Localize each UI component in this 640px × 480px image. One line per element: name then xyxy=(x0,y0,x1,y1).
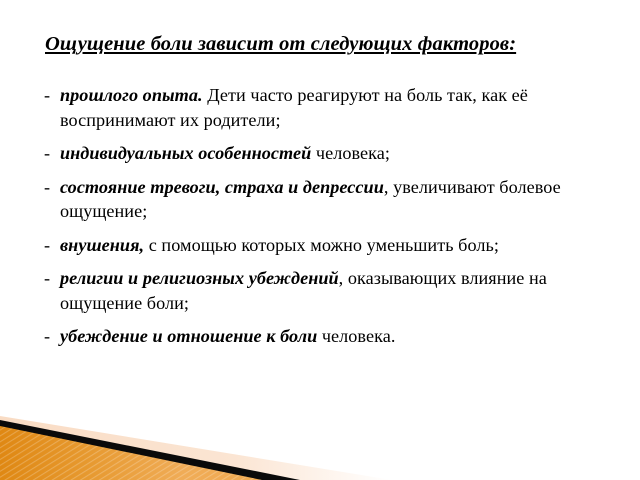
list-item: - индивидуальных особенностей человека; xyxy=(40,141,606,166)
factors-list: - прошлого опыта. Дети часто реагируют н… xyxy=(40,83,606,349)
list-item-rest: человека; xyxy=(311,143,390,163)
list-item: - убеждение и отношение к боли человека. xyxy=(40,324,606,349)
corner-decoration xyxy=(0,400,640,480)
bullet-marker: - xyxy=(44,324,50,349)
list-item: - прошлого опыта. Дети часто реагируют н… xyxy=(40,83,606,132)
list-item-lead: религии и религиозных убеждений xyxy=(60,268,339,288)
list-item: - состояние тревоги, страха и депрессии,… xyxy=(40,175,606,224)
list-item-lead: внушения, xyxy=(60,235,144,255)
slide-title: Ощущение боли зависит от следующих факто… xyxy=(40,32,606,57)
list-item-rest: человека. xyxy=(317,326,395,346)
list-item: - внушения, с помощью которых можно умен… xyxy=(40,233,606,258)
list-item-lead: убеждение и отношение к боли xyxy=(60,326,317,346)
bullet-marker: - xyxy=(44,141,50,166)
list-item-lead: индивидуальных особенностей xyxy=(60,143,311,163)
list-item-rest: с помощью которых можно уменьшить боль; xyxy=(144,235,499,255)
bullet-marker: - xyxy=(44,266,50,291)
decor-black-stripe xyxy=(0,420,300,480)
list-item: - религии и религиозных убеждений, оказы… xyxy=(40,266,606,315)
decor-orange-texture xyxy=(0,426,262,480)
slide-content: Ощущение боли зависит от следующих факто… xyxy=(40,32,606,349)
corner-decoration-svg xyxy=(0,400,640,480)
slide-canvas: Ощущение боли зависит от следующих факто… xyxy=(0,0,640,480)
bullet-marker: - xyxy=(44,83,50,108)
decor-cream-band xyxy=(0,416,392,480)
bullet-marker: - xyxy=(44,233,50,258)
bullet-marker: - xyxy=(44,175,50,200)
list-item-lead: прошлого опыта. xyxy=(60,85,203,105)
list-item-lead: состояние тревоги, страха и депрессии xyxy=(60,177,384,197)
decor-orange-triangle xyxy=(0,426,262,480)
